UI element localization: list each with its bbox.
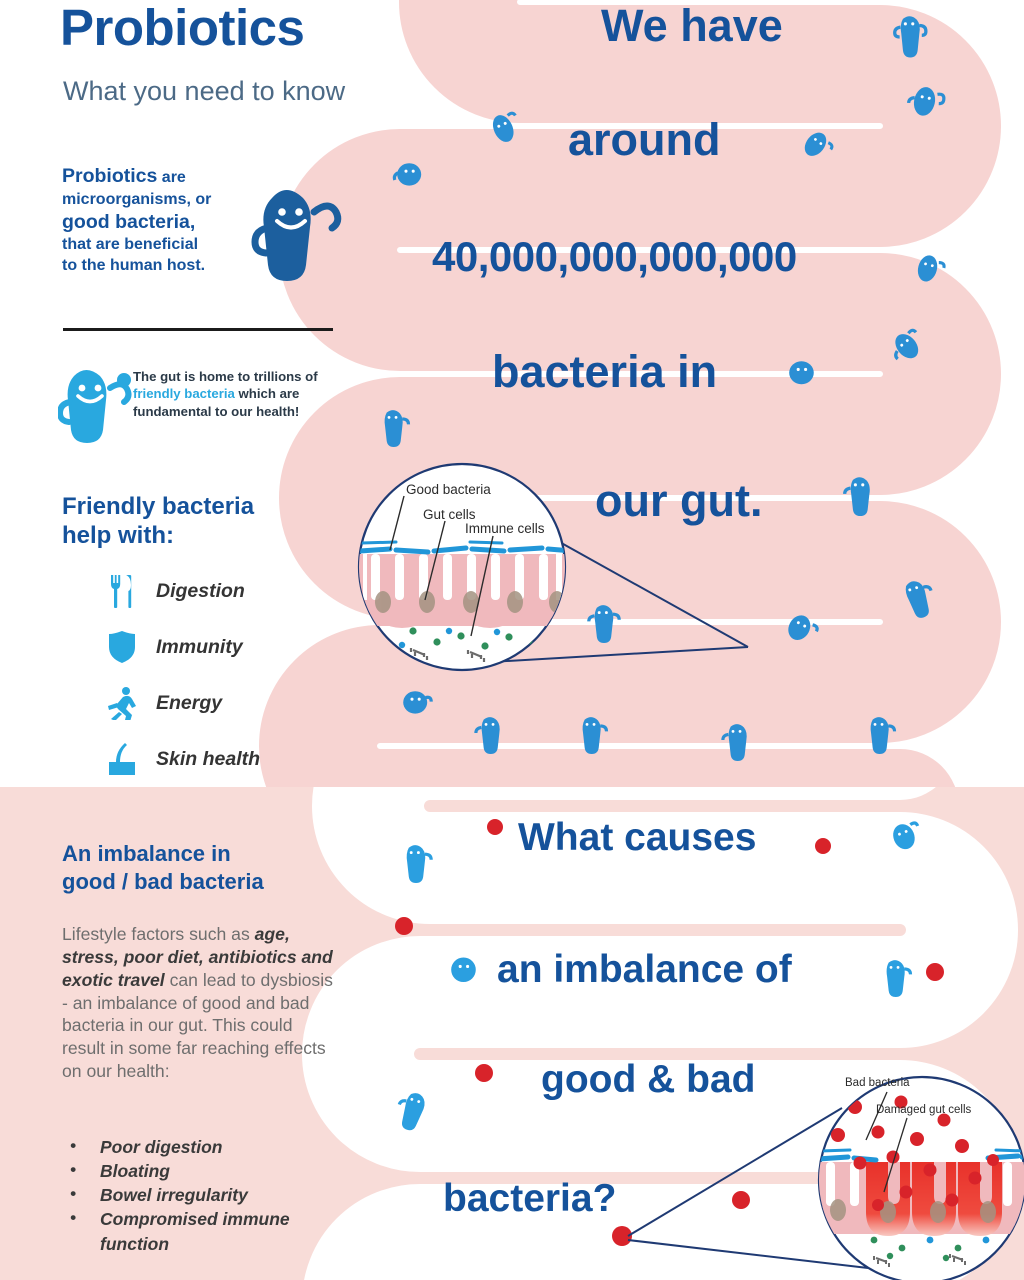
page-subtitle: What you need to know — [63, 78, 345, 105]
headline-bacteria-count: 40,000,000,000,000 — [432, 236, 797, 278]
imbalance-heading: An imbalance in good / bad bacteria — [62, 840, 352, 896]
intro-paragraph: Probiotics are microorganisms, or good b… — [62, 164, 267, 277]
gut-note-part1: The gut is home to trillions of — [133, 369, 318, 384]
infographic-canvas: Probiotics What you need to know Probiot… — [0, 0, 1024, 1280]
gut-cells-bad — [812, 1162, 1024, 1236]
imbalance-heading-line1: An imbalance in — [62, 841, 231, 866]
benefit-item-digestion: Digestion — [100, 563, 360, 619]
headline-our-gut: our gut. — [595, 478, 762, 523]
label-good-bacteria: Good bacteria — [406, 482, 491, 497]
headline-bacteria-question: bacteria? — [443, 1179, 616, 1218]
headline-what-causes: What causes — [518, 818, 756, 857]
probiotic-mascot-icon — [250, 172, 346, 290]
intro-line3: good bacteria, — [62, 211, 195, 233]
benefits-list: Digestion Immunity — [100, 563, 360, 787]
headline-bacteria-in: bacteria in — [492, 349, 717, 394]
imbalance-body-pre: Lifestyle factors such as — [62, 924, 255, 944]
friendly-bacteria-mascot-icon — [58, 358, 136, 448]
benefit-item-immunity: Immunity — [100, 619, 360, 675]
benefit-item-energy: Energy — [100, 675, 360, 731]
benefit-label-skin-health: Skin health — [156, 748, 260, 771]
headline-we-have: We have — [601, 3, 783, 48]
hair-follicle-icon — [100, 742, 144, 776]
label-damaged-gut-cells: Damaged gut cells — [876, 1104, 971, 1116]
imbalance-effects-list: Poor digestion Bloating Bowel irregulari… — [62, 1135, 352, 1256]
list-item: Bloating — [62, 1159, 352, 1183]
shield-icon — [100, 630, 144, 664]
imbalance-heading-line2: good / bad bacteria — [62, 869, 264, 894]
intro-line4: that are beneficial — [62, 236, 198, 253]
intro-line2: microorganisms, or — [62, 191, 211, 208]
benefit-label-digestion: Digestion — [156, 580, 245, 603]
fork-knife-icon — [100, 574, 144, 608]
headline-around: around — [568, 117, 721, 162]
benefit-label-energy: Energy — [156, 692, 222, 715]
intro-strong: Probiotics — [62, 165, 157, 187]
intro-line1-rest: are — [157, 169, 185, 186]
benefit-item-skin-health: Skin health — [100, 731, 360, 787]
list-item: Poor digestion — [62, 1135, 352, 1159]
label-immune-cells: Immune cells — [465, 521, 545, 536]
headline-an-imbalance-of: an imbalance of — [497, 950, 792, 989]
benefits-heading: Friendly bacteria help with: — [62, 492, 254, 551]
benefit-label-immunity: Immunity — [156, 636, 243, 659]
gut-note: The gut is home to trillions of friendly… — [133, 368, 355, 420]
label-gut-cells: Gut cells — [423, 507, 476, 522]
headline-good-and-bad: good & bad — [541, 1060, 755, 1099]
page-title: Probiotics — [60, 2, 304, 53]
gut-note-highlight: friendly bacteria — [133, 386, 235, 401]
label-bad-bacteria: Bad bacteria — [845, 1077, 910, 1089]
intro-line5: to the human host. — [62, 257, 205, 274]
list-item: Bowel irregularity — [62, 1183, 352, 1207]
benefits-heading-line1: Friendly bacteria — [62, 493, 254, 520]
imbalance-body: Lifestyle factors such as age, stress, p… — [62, 923, 334, 1083]
divider-rule — [63, 328, 333, 331]
runner-icon — [100, 686, 144, 720]
list-item: Compromised immune function — [62, 1207, 352, 1255]
benefits-heading-line2: help with: — [62, 522, 174, 549]
